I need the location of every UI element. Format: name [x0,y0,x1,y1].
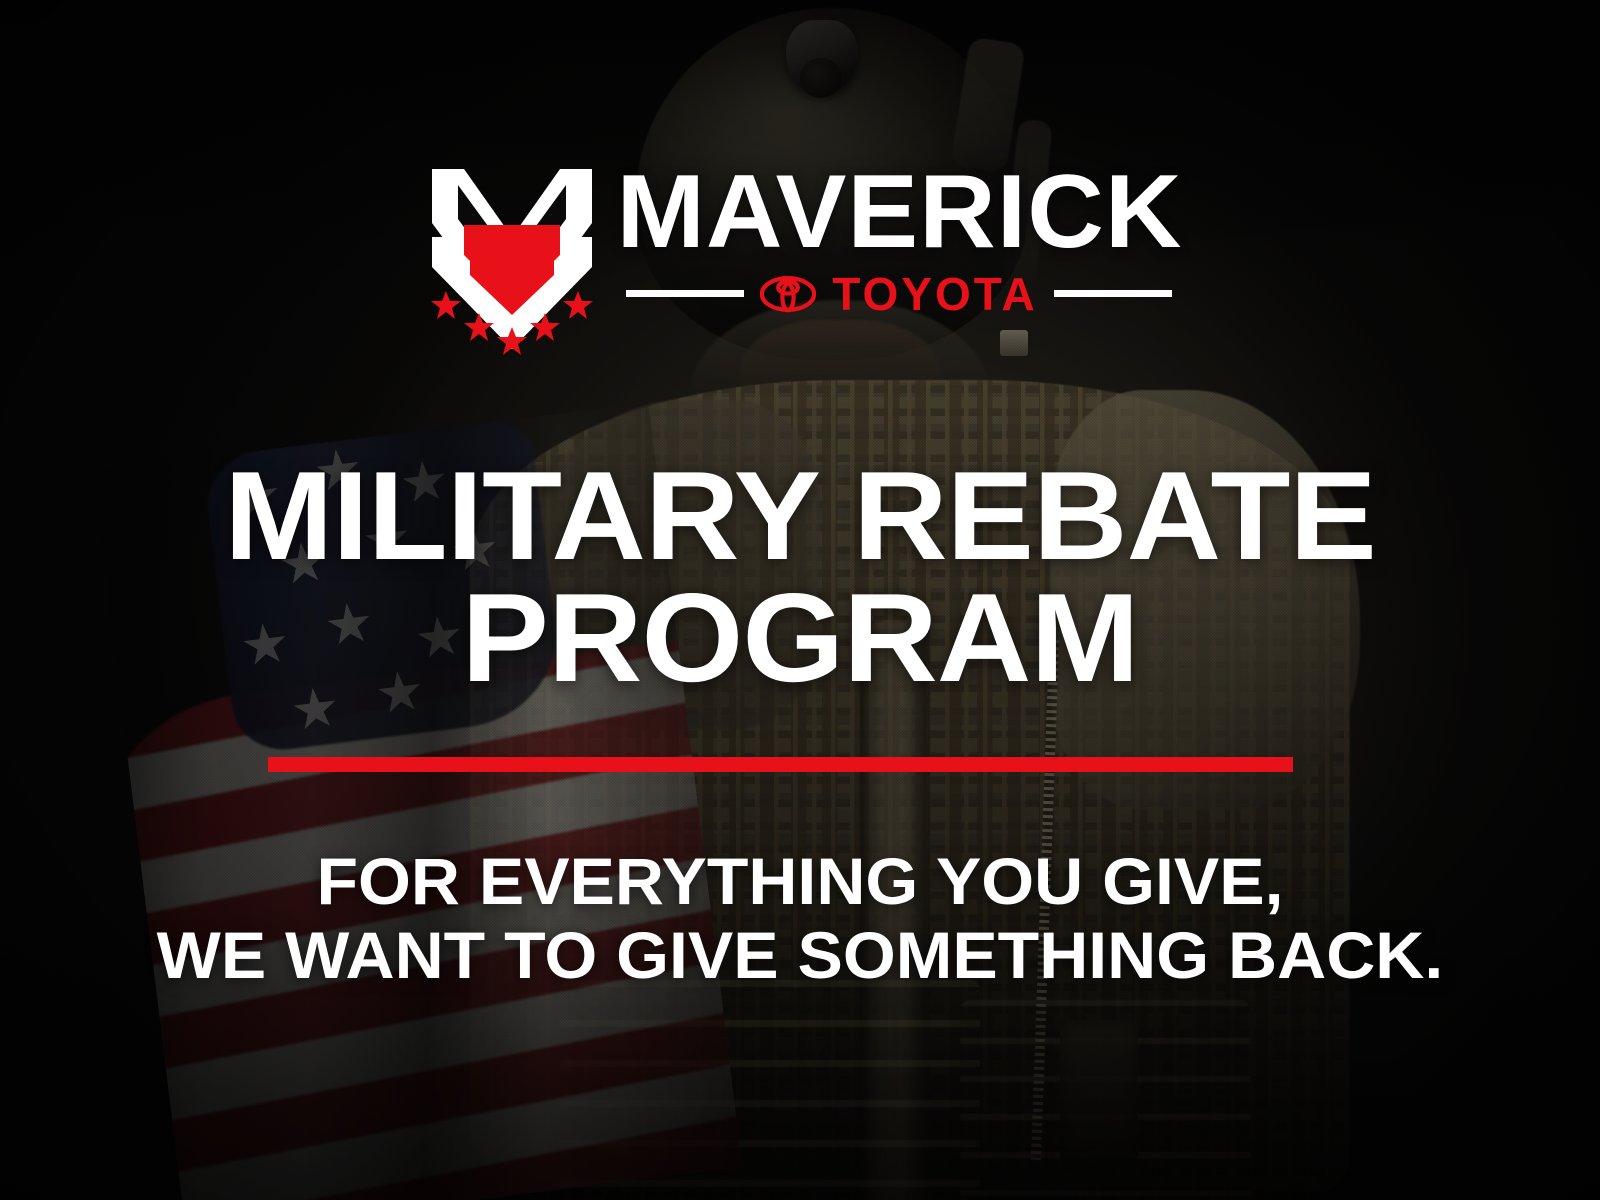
hero-content: MAVERICK TOYOTA MILITARY REBATE PROGRAM [0,0,1600,1200]
lockup-rule-right [1054,290,1172,297]
brand-lockup[interactable]: MAVERICK TOYOTA [0,163,1600,355]
headline-line-1: MILITARY REBATE [224,445,1376,586]
chevron-rank-badge-icon [424,163,600,355]
star-icon [563,291,593,319]
star-icon [431,291,461,319]
toyota-ellipse-emblem-icon [760,275,816,313]
military-rebate-hero-banner: MAVERICK TOYOTA MILITARY REBATE PROGRAM [0,0,1600,1200]
red-divider-rule [268,757,1293,772]
toyota-wordmark: TOYOTA [832,271,1037,317]
tagline: FOR EVERYTHING YOU GIVE, WE WANT TO GIVE… [0,845,1600,993]
tagline-line-2: WE WANT TO GIVE SOMETHING BACK. [0,919,1600,993]
page-title: MILITARY REBATE PROGRAM [0,455,1600,699]
tagline-line-1: FOR EVERYTHING YOU GIVE, [316,844,1283,918]
maverick-wordmark: MAVERICK [616,163,1182,263]
headline-line-2: PROGRAM [0,577,1600,699]
lockup-rule-left [626,290,744,297]
toyota-lockup: TOYOTA [622,271,1177,317]
wordmark-column: MAVERICK TOYOTA [622,163,1177,317]
